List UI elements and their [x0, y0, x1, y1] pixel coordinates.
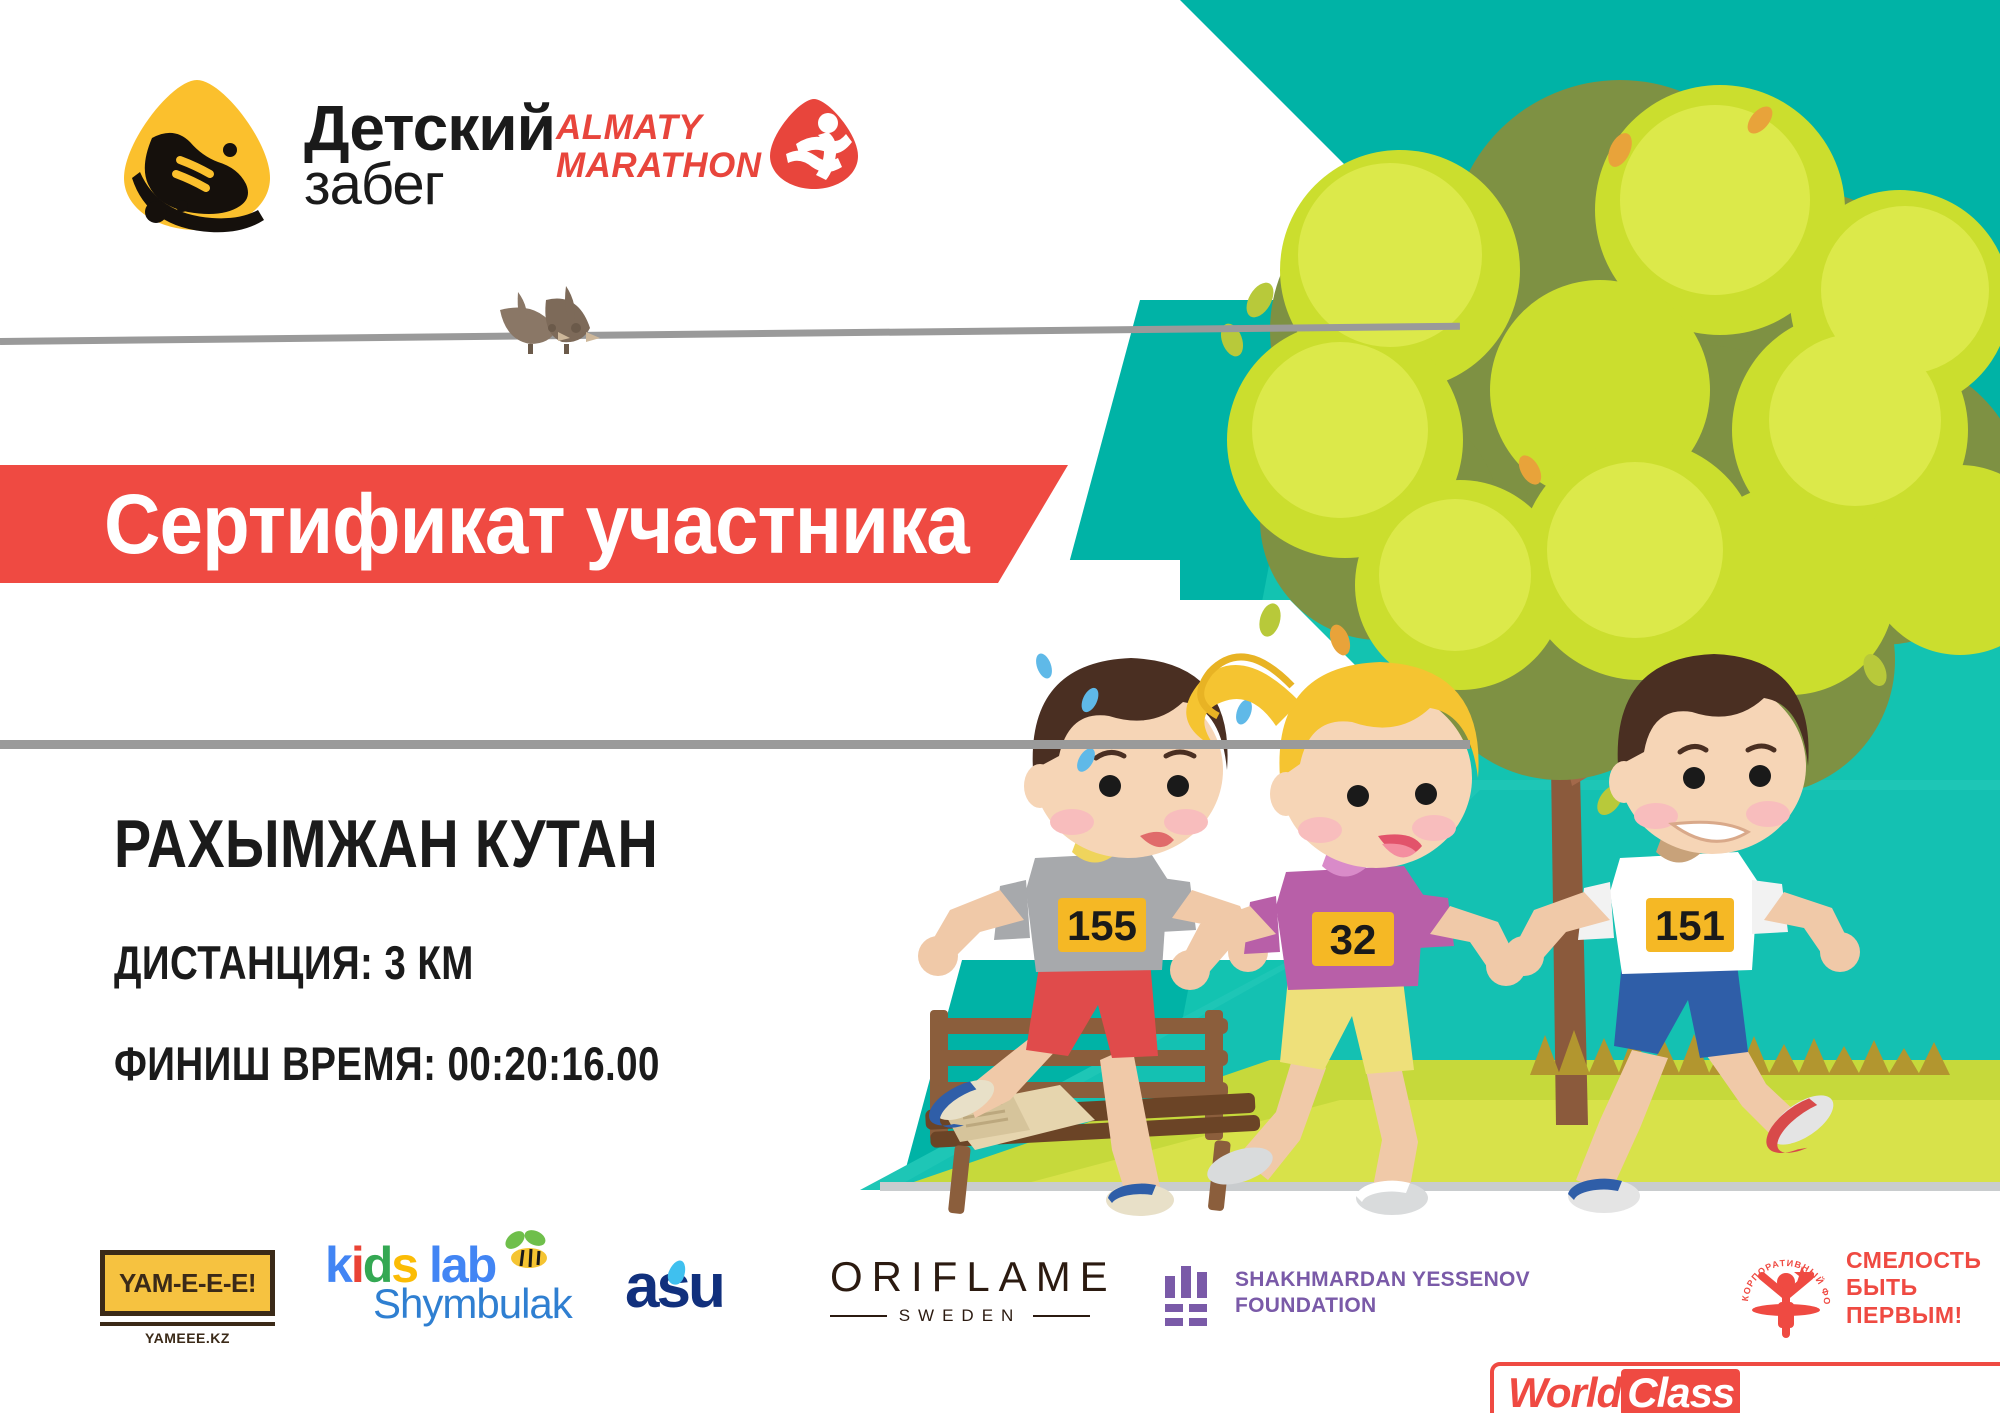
participant-finish-time: ФИНИШ ВРЕМЯ: 00:20:16.00: [114, 1036, 660, 1091]
yameee-wrapper-icon: YAM-E-E-E!: [100, 1250, 275, 1316]
shape-ground-line: [880, 1182, 2000, 1191]
sponsor-kidslab[interactable]: kids lab Shymbulak: [325, 1240, 545, 1340]
sponsor-yessenov-text: SHAKHMARDAN YESSENOV FOUNDATION: [1235, 1267, 1530, 1318]
sponsor-row: YAM-E-E-E! YAMEEE.KZ kids lab Shymbulak: [0, 1240, 2000, 1360]
sponsor-smelost-line3: ПЕРВЫМ!: [1846, 1302, 1981, 1329]
sponsor-oriflame-label: ORIFLAME: [830, 1256, 1090, 1298]
running-shoe-icon: [118, 76, 276, 234]
runner-2-bib-number: 32: [1330, 916, 1377, 963]
rule-left: [830, 1315, 887, 1317]
page-title: Сертификат участника: [104, 476, 969, 573]
sponsor-yameee[interactable]: YAM-E-E-E! YAMEEE.KZ: [100, 1250, 275, 1346]
rule-right: [1033, 1315, 1090, 1317]
certificate-title-banner: Сертификат участника: [0, 465, 1068, 583]
runner-3-bib-number: 151: [1655, 902, 1725, 949]
marathon-logo-line1: ALMATY: [556, 109, 762, 146]
sponsor-worldclass-box: WorldClass: [1490, 1362, 2000, 1413]
brave-child-icon: КОРПОРАТИВНЫЙ ФОНД: [1740, 1242, 1832, 1334]
participant-info: РАХЫМЖАН КУТАН ДИСТАНЦИЯ: 3 КМ ФИНИШ ВРЕ…: [114, 805, 780, 1137]
certificate-canvas: 155: [0, 0, 2000, 1413]
bars-icon: [1165, 1262, 1215, 1324]
marathon-logo-line2: MARATHON: [556, 147, 762, 184]
runner-1-bib-number: 155: [1067, 902, 1137, 949]
sponsor-worldclass-word2: Class: [1621, 1369, 1740, 1413]
sponsor-smelost-line2: БЫТЬ: [1846, 1274, 1981, 1301]
sponsor-yessenov[interactable]: SHAKHMARDAN YESSENOV FOUNDATION: [1165, 1262, 1530, 1324]
sponsor-yameee-url: YAMEEE.KZ: [100, 1322, 275, 1346]
sponsor-oriflame-sub: SWEDEN: [887, 1306, 1034, 1326]
sponsor-smelost[interactable]: КОРПОРАТИВНЫЙ ФОНД СМЕЛОСТЬ БЫТЬ ПЕРВЫМ!: [1740, 1242, 1981, 1334]
sponsor-smelost-line1: СМЕЛОСТЬ: [1846, 1247, 1981, 1274]
event-logo: Детский забег: [118, 76, 555, 234]
sponsor-oriflame-subline: SWEDEN: [830, 1306, 1090, 1326]
sponsor-yameee-label: YAM-E-E-E!: [119, 1268, 256, 1299]
sponsor-kidslab-sub: Shymbulak: [373, 1280, 572, 1328]
bee-icon: [501, 1228, 555, 1276]
sponsor-yessenov-line1: SHAKHMARDAN YESSENOV: [1235, 1267, 1530, 1293]
sponsor-smelost-text: СМЕЛОСТЬ БЫТЬ ПЕРВЫМ!: [1846, 1247, 1981, 1328]
birds-on-wire-illustration: [490, 282, 670, 362]
event-logo-line2: забег: [304, 158, 555, 213]
participant-name: РАХЫМЖАН КУТАН: [114, 805, 660, 883]
participant-distance: ДИСТАНЦИЯ: 3 КМ: [114, 935, 660, 990]
sponsor-worldclass-word1: World: [1508, 1369, 1621, 1413]
sponsor-yessenov-line2: FOUNDATION: [1235, 1293, 1530, 1319]
event-logo-line1: Детский: [304, 98, 555, 158]
runner-icon: [766, 96, 862, 197]
sponsor-asu[interactable]: asu: [625, 1256, 723, 1318]
almaty-marathon-logo: ALMATY MARATHON: [556, 96, 862, 197]
sponsor-oriflame[interactable]: ORIFLAME SWEDEN: [830, 1256, 1090, 1326]
lower-wire: [0, 740, 1470, 749]
sponsor-worldclass[interactable]: WorldClass: [1490, 1362, 2000, 1413]
